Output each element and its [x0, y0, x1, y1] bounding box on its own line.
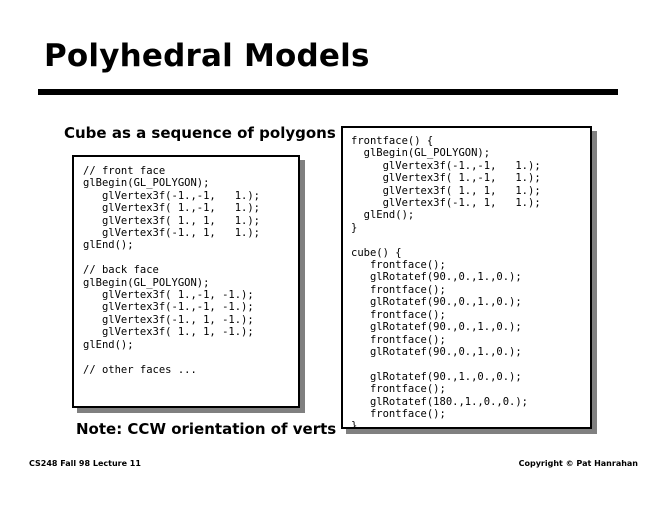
footer-copyright-label: Copyright © Pat Hanrahan [519, 459, 638, 468]
left-code-block: // front face glBegin(GL_POLYGON); glVer… [72, 155, 300, 408]
page-title: Polyhedral Models [44, 38, 370, 74]
left-section-heading: Cube as a sequence of polygons [64, 124, 336, 142]
slide-canvas: Polyhedral Models Cube as a sequence of … [0, 0, 660, 510]
right-code-text: frontface() { glBegin(GL_POLYGON); glVer… [343, 128, 590, 429]
title-divider-rule [38, 89, 618, 95]
ccw-orientation-note: Note: CCW orientation of verts [76, 420, 336, 438]
right-code-block: frontface() { glBegin(GL_POLYGON); glVer… [341, 126, 592, 429]
footer-course-label: CS248 Fall 98 Lecture 11 [29, 459, 141, 468]
left-code-text: // front face glBegin(GL_POLYGON); glVer… [74, 157, 298, 376]
